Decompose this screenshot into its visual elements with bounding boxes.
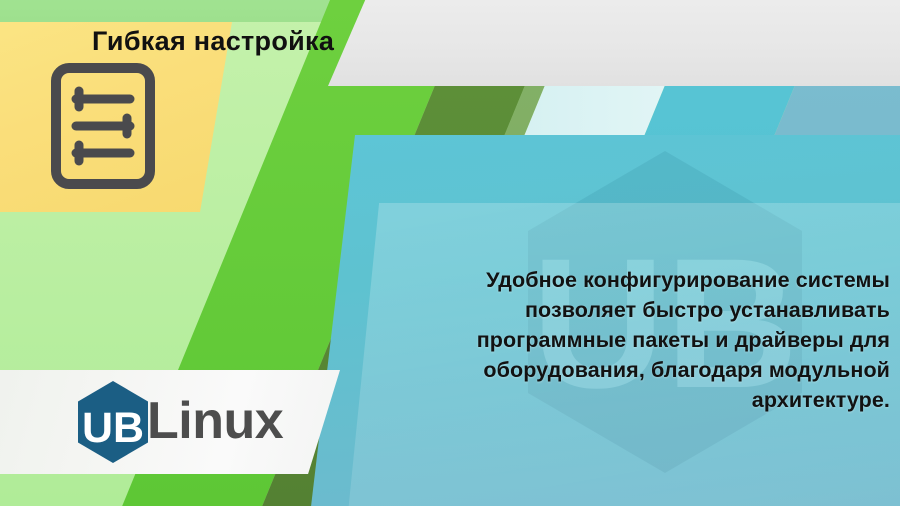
ub-hexagon-icon: UB bbox=[75, 380, 151, 464]
brand-wordmark: Linux bbox=[147, 395, 283, 447]
body-description: Удобное конфигурирование системы позволя… bbox=[400, 265, 890, 415]
brand-logo: UB Linux bbox=[75, 382, 283, 462]
ub-mark-text: UB bbox=[82, 404, 144, 452]
slide-canvas: Гибкая настройка UB Удобное конфигуриров… bbox=[0, 0, 900, 506]
page-title: Гибкая настройка bbox=[92, 0, 334, 86]
title-bar bbox=[328, 0, 900, 86]
